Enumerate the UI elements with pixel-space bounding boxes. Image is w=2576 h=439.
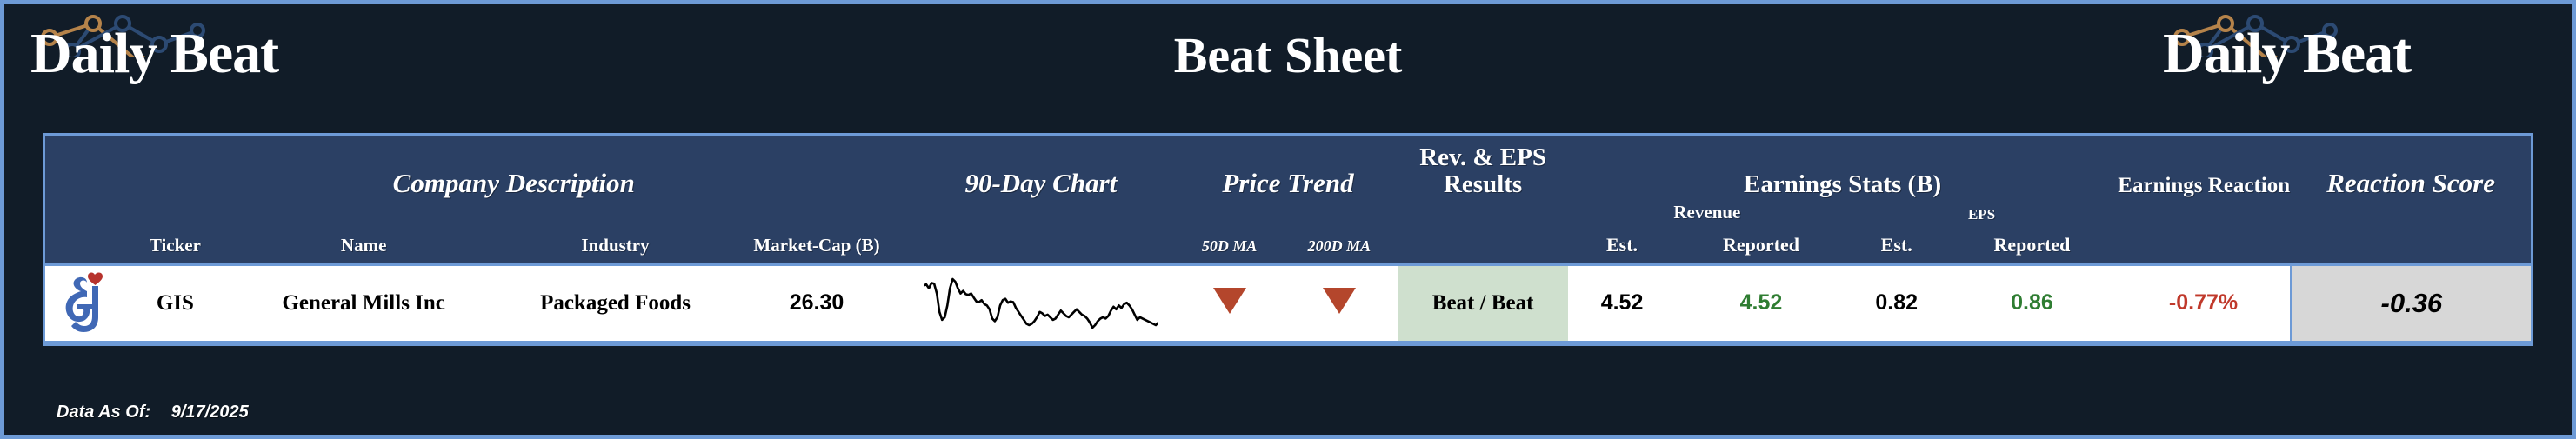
column-200d-ma[interactable]: 200D MA: [1281, 231, 1398, 265]
cell-earnings-reaction: -0.77%: [2117, 264, 2291, 342]
subgroup-spacer-2: [123, 199, 226, 230]
beat-sheet-table: Company Description 90-Day Chart Price T…: [43, 133, 2533, 346]
cell-industry: Packaged Foods: [501, 264, 730, 342]
header-group-row: Company Description 90-Day Chart Price T…: [45, 136, 2531, 199]
company-logo-cell: [45, 264, 123, 342]
data-as-of-label: Data As Of:: [57, 402, 150, 422]
table-row[interactable]: GIS General Mills Inc Packaged Foods 26.…: [45, 264, 2531, 342]
column-industry[interactable]: Industry: [501, 231, 730, 265]
data-as-of: Data As Of: 9/17/2025: [57, 402, 249, 422]
group-reaction-score: Reaction Score: [2291, 136, 2531, 199]
cell-revenue-reported: 4.52: [1676, 264, 1846, 342]
masthead: Daily Beat Beat Sheet Daily Beat: [4, 4, 2572, 133]
column-50d-ma[interactable]: 50D MA: [1178, 231, 1281, 265]
group-price-trend: Price Trend: [1178, 136, 1398, 199]
group-spacer: [45, 136, 123, 199]
subgroup-spacer-4: [501, 199, 730, 230]
cell-revenue-est: 4.52: [1568, 264, 1676, 342]
subgroup-revenue: Revenue: [1568, 199, 1846, 230]
group-chart: 90-Day Chart: [904, 136, 1178, 199]
column-revenue-est[interactable]: Est.: [1568, 231, 1676, 265]
subgroup-spacer-8: [1281, 199, 1398, 230]
cell-market-cap: 26.30: [730, 264, 904, 342]
header-subgroup-row: Revenue EPS: [45, 199, 2531, 230]
brand-logo-right: Daily Beat: [2163, 10, 2546, 131]
subgroup-spacer-5: [730, 199, 904, 230]
subgroup-spacer-10: [2117, 199, 2291, 230]
sparkline-chart: [924, 272, 1158, 335]
column-revenue-reported[interactable]: Reported: [1676, 231, 1846, 265]
subgroup-spacer-7: [1178, 199, 1281, 230]
cell-200d-ma: [1281, 264, 1398, 342]
group-earnings-reaction: Earnings Reaction: [2117, 136, 2291, 199]
group-rev-eps-results: Rev. & EPS Results: [1398, 136, 1568, 199]
column-chart: [904, 231, 1178, 265]
cell-sparkline: [904, 264, 1178, 342]
subgroup-spacer-1: [45, 199, 123, 230]
column-eps-reported[interactable]: Reported: [1947, 231, 2118, 265]
triangle-down-icon: [1213, 288, 1246, 314]
cell-ticker: GIS: [123, 264, 226, 342]
cell-50d-ma: [1178, 264, 1281, 342]
general-mills-logo-icon: [57, 272, 111, 335]
brand-wordmark: Daily Beat: [2163, 25, 2411, 83]
cell-reaction-score: -0.36: [2291, 264, 2531, 342]
column-name[interactable]: Name: [226, 231, 501, 265]
beat-sheet-page: Daily Beat Beat Sheet Daily Beat: [0, 0, 2576, 439]
subgroup-spacer-6: [904, 199, 1178, 230]
cell-name: General Mills Inc: [226, 264, 501, 342]
column-results: [1398, 231, 1568, 265]
table-body: GIS General Mills Inc Packaged Foods 26.…: [45, 264, 2531, 342]
subgroup-eps: EPS: [1846, 199, 2117, 230]
table-head: Company Description 90-Day Chart Price T…: [45, 136, 2531, 264]
cell-eps-est: 0.82: [1846, 264, 1947, 342]
header-column-row: Ticker Name Industry Market-Cap (B) 50D …: [45, 231, 2531, 265]
cell-results: Beat / Beat: [1398, 264, 1568, 342]
subgroup-spacer-11: [2291, 199, 2531, 230]
subgroup-spacer-9: [1398, 199, 1568, 230]
triangle-down-icon: [1323, 288, 1356, 314]
subgroup-spacer-3: [226, 199, 501, 230]
column-market-cap[interactable]: Market-Cap (B): [730, 231, 904, 265]
group-company-description: Company Description: [123, 136, 904, 199]
column-logo: [45, 231, 123, 265]
cell-eps-reported: 0.86: [1947, 264, 2118, 342]
column-reaction-score: [2291, 231, 2531, 265]
group-earnings-stats: Earnings Stats (B): [1568, 136, 2117, 199]
column-earnings-reaction: [2117, 231, 2291, 265]
data-as-of-date: 9/17/2025: [171, 402, 249, 422]
column-ticker[interactable]: Ticker: [123, 231, 226, 265]
column-eps-est[interactable]: Est.: [1846, 231, 1947, 265]
